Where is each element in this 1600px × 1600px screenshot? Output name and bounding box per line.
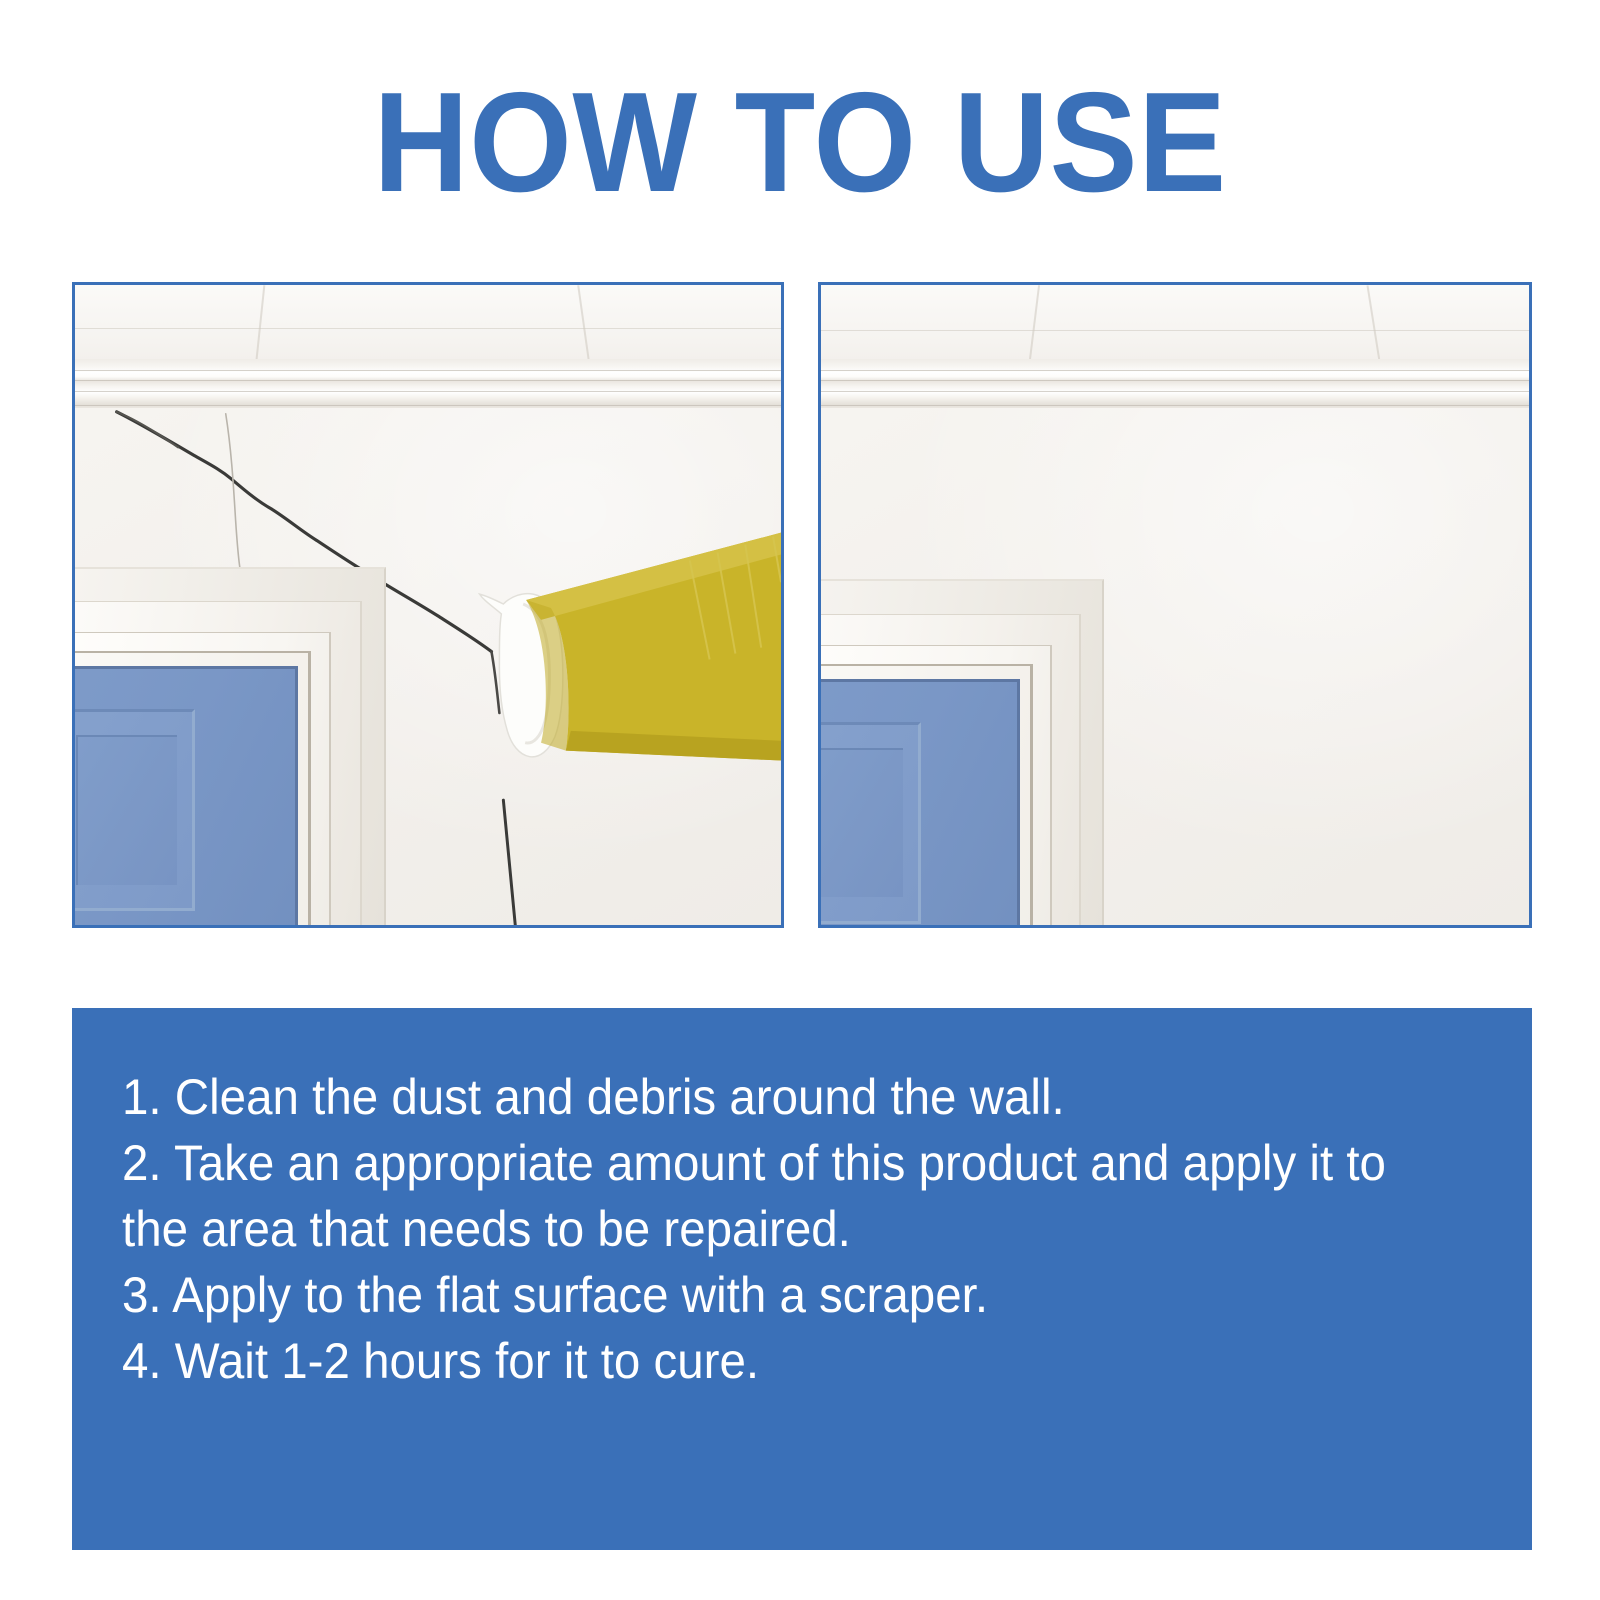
instruction-step-4: 4. Wait 1-2 hours for it to cure. (122, 1328, 1433, 1394)
instruction-step-1: 1. Clean the dust and debris around the … (122, 1064, 1433, 1130)
white-door-frame (821, 579, 1104, 925)
blue-door (821, 679, 1020, 925)
before-photo (72, 282, 784, 928)
instruction-step-2: 2. Take an appropriate amount of this pr… (122, 1130, 1433, 1262)
ceiling (821, 285, 1529, 368)
after-photo (818, 282, 1532, 928)
before-scene (75, 285, 781, 925)
instructions-panel: 1. Clean the dust and debris around the … (72, 1008, 1532, 1550)
after-scene (821, 285, 1529, 925)
instructions-list: 1. Clean the dust and debris around the … (122, 1064, 1502, 1394)
page-title: HOW TO USE (56, 72, 1544, 214)
crown-molding (821, 359, 1529, 411)
yellow-scraper (75, 285, 781, 925)
instruction-step-3: 3. Apply to the flat surface with a scra… (122, 1262, 1433, 1328)
